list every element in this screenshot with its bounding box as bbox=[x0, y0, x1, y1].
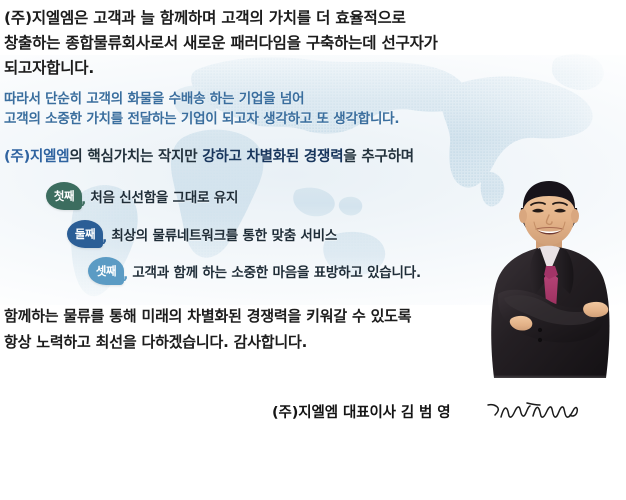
value-ordinal-1: 첫째 bbox=[54, 188, 74, 204]
core-value-mid: 의 핵심가치는 작지만 bbox=[69, 149, 202, 165]
highlight-paragraph: 따라서 단순히 고객의 화물을 수배송 하는 기업을 넘어 고객의 소중한 가치… bbox=[4, 89, 399, 129]
executive-portrait bbox=[478, 178, 626, 393]
value-badge-1: 첫째 bbox=[46, 182, 82, 210]
value-comma-3: , bbox=[123, 267, 128, 283]
core-value-line: (주)지엘엠의 핵심가치는 작지만 강하고 차별화된 경쟁력을 추구하며 bbox=[4, 147, 414, 168]
company-name: (주)지엘엠 bbox=[4, 149, 69, 165]
value-comma-1: , bbox=[81, 192, 86, 208]
value-badge-3: 셋째 bbox=[88, 257, 124, 285]
intro-line-1: (주)지엘엠은 고객과 늘 함께하며 고객의 가치를 더 효율적으로 bbox=[4, 9, 406, 27]
core-value-emphasis: 강하고 차별화된 경쟁력 bbox=[202, 149, 343, 165]
closing-paragraph: 함께하는 물류를 통해 미래의 차별화된 경쟁력을 키워갈 수 있도록 항상 노… bbox=[4, 303, 411, 355]
intro-line-2: 창출하는 종합물류회사로서 새로운 패러다임을 구축하는데 선구자가 bbox=[4, 34, 438, 52]
intro-line-3: 되고자합니다. bbox=[4, 59, 94, 77]
signature-line: (주)지엘엠 대표이사 김 범 영 bbox=[272, 401, 451, 422]
value-badge-2: 둘째 bbox=[67, 220, 103, 248]
value-text-1: 처음 신선함을 그대로 유지 bbox=[90, 186, 238, 206]
value-text-3: 고객과 함께 하는 소중한 마음을 표방하고 있습니다. bbox=[132, 261, 421, 281]
value-text-2: 최상의 물류네트워크를 통한 맞춤 서비스 bbox=[111, 224, 337, 244]
highlight-line-1: 따라서 단순히 고객의 화물을 수배송 하는 기업을 넘어 bbox=[4, 91, 304, 107]
core-value-tail: 을 추구하며 bbox=[343, 149, 414, 165]
value-item-2: 둘째 , 최상의 물류네트워크를 통한 맞춤 서비스 bbox=[67, 220, 337, 248]
handwritten-signature-icon bbox=[485, 395, 581, 429]
value-item-1: 첫째 , 처음 신선함을 그대로 유지 bbox=[46, 182, 238, 210]
value-comma-2: , bbox=[102, 230, 107, 246]
value-ordinal-3: 셋째 bbox=[96, 263, 116, 279]
greeting-page: (주)지엘엠은 고객과 늘 함께하며 고객의 가치를 더 효율적으로 창출하는 … bbox=[0, 0, 626, 500]
intro-paragraph: (주)지엘엠은 고객과 늘 함께하며 고객의 가치를 더 효율적으로 창출하는 … bbox=[4, 6, 438, 81]
highlight-line-2: 고객의 소중한 가치를 전달하는 기업이 되고자 생각하고 또 생각합니다. bbox=[4, 111, 399, 127]
value-item-3: 셋째 , 고객과 함께 하는 소중한 마음을 표방하고 있습니다. bbox=[88, 257, 421, 285]
closing-line-2: 항상 노력하고 최선을 다하겠습니다. 감사합니다. bbox=[4, 333, 307, 351]
closing-line-1: 함께하는 물류를 통해 미래의 차별화된 경쟁력을 키워갈 수 있도록 bbox=[4, 307, 411, 325]
value-ordinal-2: 둘째 bbox=[75, 226, 95, 242]
